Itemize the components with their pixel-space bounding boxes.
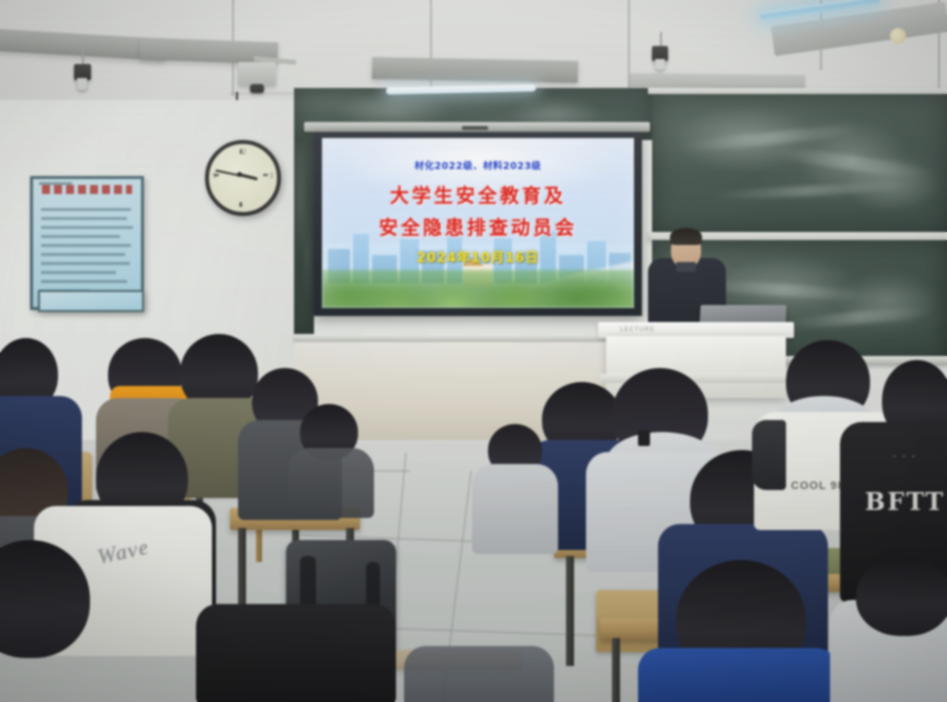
slide-date: 2024年10月16日 [322, 247, 634, 266]
jacket-text-top: · · · [840, 451, 947, 461]
light-end-cap [890, 28, 906, 44]
ceiling-beam-right [630, 73, 805, 89]
student-body [404, 646, 554, 702]
slide-content: 材化2022级、材料2023级 大学生安全教育及 安全隐患排查动员会 2024年… [322, 138, 634, 308]
wall-clock: 12 3 6 9 [205, 140, 281, 216]
presenter-hair [670, 228, 702, 245]
chalkboard-right-top [652, 94, 947, 234]
jacket-text: BFTT [840, 487, 947, 516]
screen-brand-badge [462, 126, 488, 130]
presenter-collar [676, 262, 696, 272]
student-body [472, 464, 558, 554]
earbud [638, 430, 650, 446]
slide-title-line1: 大学生安全教育及 [322, 181, 634, 208]
slide-subtitle: 材化2022级、材料2023级 [322, 158, 634, 172]
desk-leg [566, 556, 574, 666]
student-head [856, 556, 947, 636]
small-placard [38, 290, 144, 312]
ceiling-speaker-1-cone [77, 78, 87, 90]
chalkboard-left-edge [294, 140, 314, 336]
classroom-photo: 12 3 6 9 [0, 0, 947, 702]
projector-mount [238, 62, 276, 86]
student-body-blue [638, 648, 838, 702]
poster-heading [42, 185, 133, 194]
slide-greenery [322, 270, 634, 308]
hoodie-shoulder-dark [752, 420, 786, 490]
student-body [288, 448, 374, 518]
student-body [196, 604, 396, 702]
desk-leg [612, 638, 620, 702]
slide-title-line2: 安全隐患排查动员会 [322, 213, 634, 240]
projection-screen: 材化2022级、材料2023级 大学生安全教育及 安全隐患排查动员会 2024年… [314, 132, 642, 316]
ceiling-speaker-2-cone [655, 59, 665, 70]
podium-logo: LECTURE [620, 327, 655, 333]
ceiling-beam-center [372, 57, 578, 83]
